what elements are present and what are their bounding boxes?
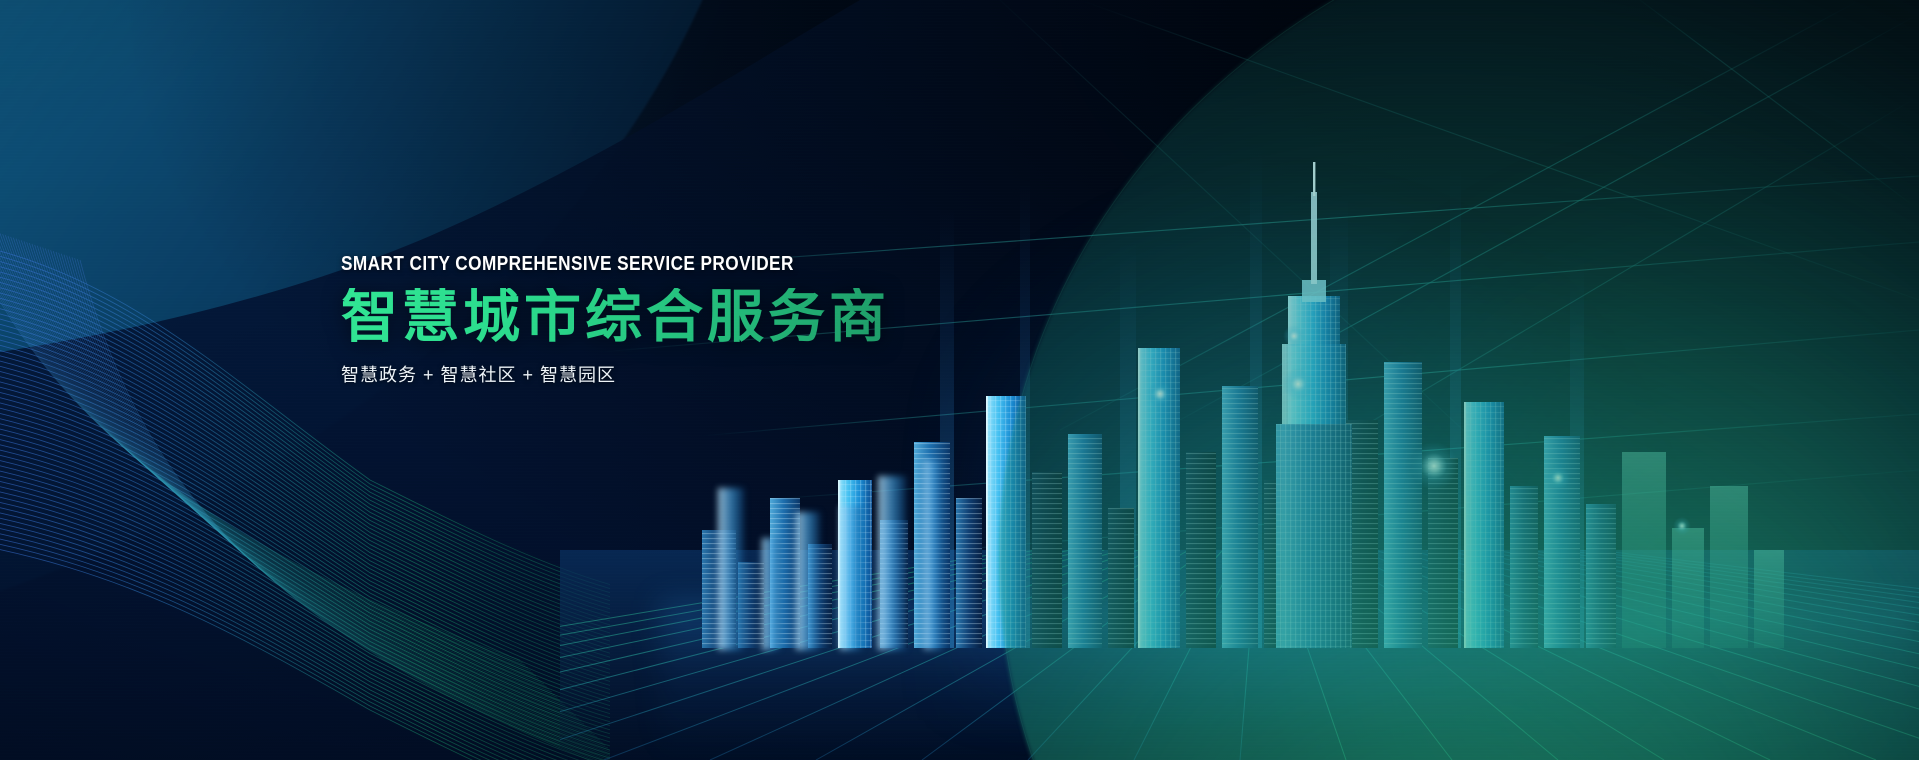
banner-eyebrow: SMART CITY COMPREHENSIVE SERVICE PROVIDE… (341, 253, 995, 276)
smart-city-banner: SMART CITY COMPREHENSIVE SERVICE PROVIDE… (0, 0, 1919, 760)
green-arc-edge (999, 0, 1919, 760)
banner-subline: 智慧政务 + 智慧社区 + 智慧园区 (341, 361, 1101, 387)
banner-text-block: SMART CITY COMPREHENSIVE SERVICE PROVIDE… (341, 253, 1101, 387)
banner-headline: 智慧城市综合服务商 (341, 288, 1101, 347)
